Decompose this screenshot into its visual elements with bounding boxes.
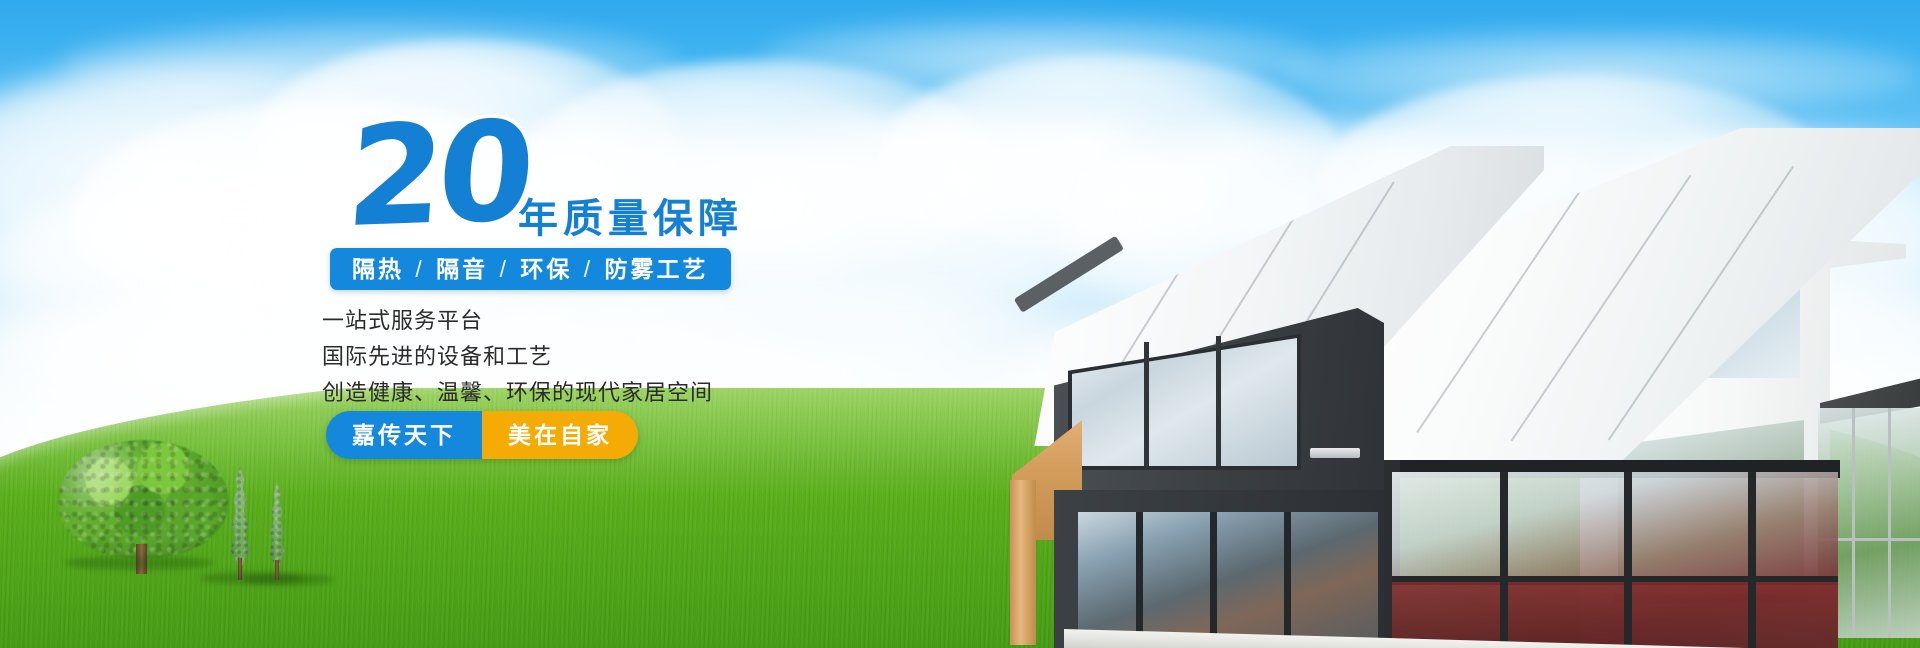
headline-suffix: 年质量保障 <box>518 186 743 244</box>
feature-separator: / <box>582 256 595 282</box>
description-line: 一站式服务平台 <box>322 306 713 336</box>
description-line: 国际先进的设备和工艺 <box>322 342 713 372</box>
feature-separator: / <box>413 256 426 282</box>
cta-primary-button[interactable]: 嘉传天下 <box>326 411 482 459</box>
modern-glass-sunroom-house <box>1020 120 1920 648</box>
glazing-mullion <box>1500 582 1508 648</box>
description-list: 一站式服务平台 国际先进的设备和工艺 创造健康、温馨、环保的现代家居空间 <box>322 306 713 414</box>
glazing-mullion <box>1136 512 1143 648</box>
description-line: 创造健康、温馨、环保的现代家居空间 <box>322 378 713 408</box>
feature-item-3: 环保 <box>520 256 572 282</box>
headline-number: 20 <box>343 103 533 247</box>
feature-item-2: 隔音 <box>436 256 488 282</box>
cypress-texture <box>263 482 291 568</box>
gable-window-mullion <box>1144 342 1149 466</box>
feature-item-4: 防雾工艺 <box>605 256 709 282</box>
cypress-texture <box>223 466 257 568</box>
headline-number-text: 20 <box>343 103 533 247</box>
gable-window-mullion <box>1216 336 1221 466</box>
conservatory-mullion <box>1888 408 1891 638</box>
cypress-shadow <box>244 574 334 585</box>
feature-separator: / <box>498 256 511 282</box>
roof-vent <box>1310 448 1360 458</box>
cta-group: 嘉传天下 美在自家 <box>326 411 638 459</box>
promo-banner: 20 年质量保障 隔热 / 隔音 / 环保 / 防雾工艺 一站式服务平台 国际先… <box>0 0 1920 648</box>
glazing-mullion <box>1284 512 1291 648</box>
glazing-mullion <box>1624 582 1632 648</box>
roof-eave-trim <box>1014 236 1124 313</box>
cypress-tree <box>263 482 291 568</box>
oak-shadow <box>64 556 214 570</box>
oak-canopy <box>58 440 228 558</box>
glazing-mullion <box>1748 582 1756 648</box>
cta-secondary-button[interactable]: 美在自家 <box>482 411 638 459</box>
features-badge: 隔热 / 隔音 / 环保 / 防雾工艺 <box>330 248 731 290</box>
cypress-tree <box>223 466 257 568</box>
banner-copy-block: 20 年质量保障 隔热 / 隔音 / 环保 / 防雾工艺 一站式服务平台 国际先… <box>318 98 1018 568</box>
oak-tree <box>58 440 233 560</box>
sunroom-front-glazing <box>1078 512 1378 648</box>
feature-item-1: 隔热 <box>352 256 404 282</box>
sunroom-lower-panels <box>1392 582 1838 648</box>
glazing-mullion <box>1210 512 1217 648</box>
oak-foliage-texture <box>58 440 228 558</box>
conservatory-mullion <box>1852 408 1855 638</box>
